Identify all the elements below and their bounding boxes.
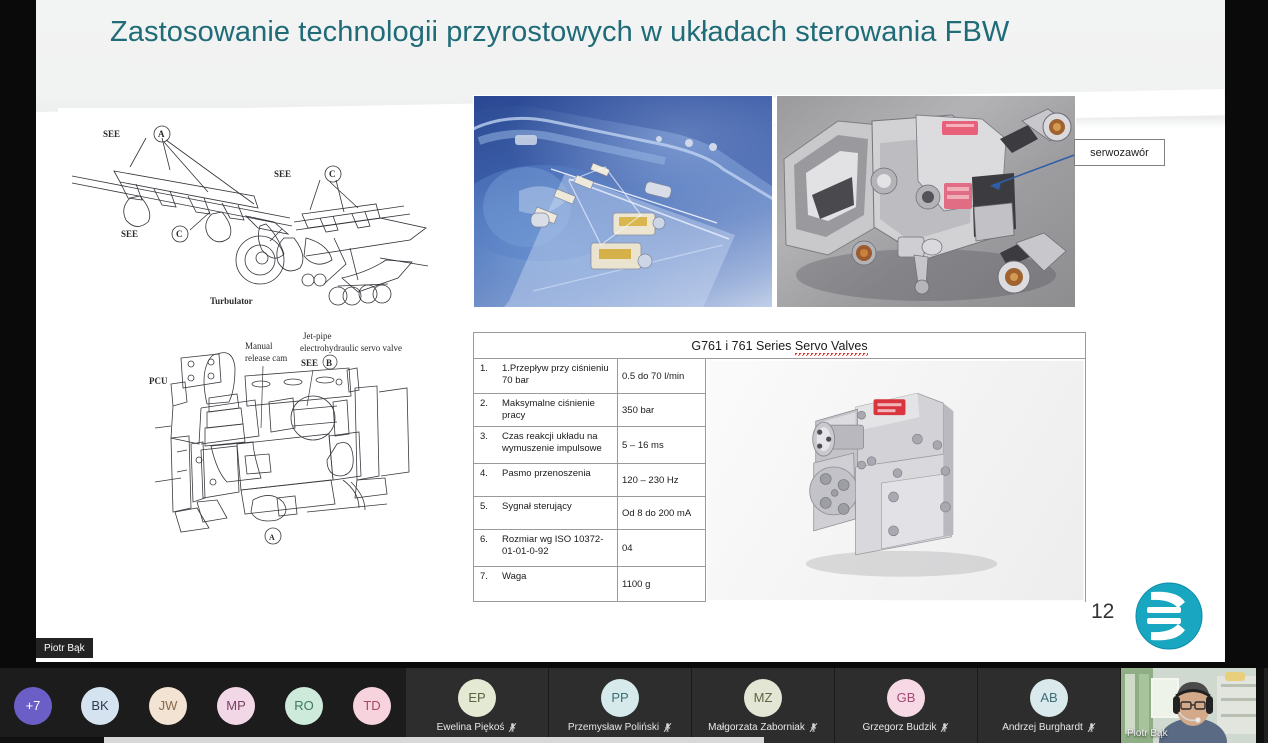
- spec-table-title-underlined: Servo Valves: [795, 339, 868, 356]
- svg-text:C: C: [329, 169, 336, 179]
- self-video-tile[interactable]: Piotr Bąk: [1121, 668, 1264, 743]
- callout-label: serwozawór: [1090, 147, 1149, 159]
- avatar: EP: [458, 679, 496, 717]
- figure-servo-actuator-photo: [776, 95, 1076, 308]
- row-parameter: Maksymalne ciśnienie pracy: [500, 394, 617, 426]
- roster-participant-td[interactable]: TD: [338, 668, 406, 743]
- avatar: MZ: [744, 679, 782, 717]
- roster-participant-przemyslaw-polinski[interactable]: PP Przemysław Poliński: [549, 668, 692, 743]
- participant-name-text: Przemysław Poliński: [568, 722, 659, 733]
- row-number: 2.: [474, 394, 500, 426]
- avatar: JW: [149, 687, 187, 725]
- roster-participant-mp[interactable]: MP: [202, 668, 270, 743]
- mic-off-icon: [508, 722, 517, 733]
- svg-text:Turbulator: Turbulator: [210, 296, 253, 306]
- avatar: RO: [285, 687, 323, 725]
- mic-off-icon: [809, 722, 818, 733]
- avatar-initials: EP: [468, 690, 485, 705]
- roster-participant-ewelina-piekos[interactable]: EP Ewelina Piękoś: [406, 668, 549, 743]
- roster-overflow-count[interactable]: +7: [0, 668, 66, 743]
- roster-participant-bk[interactable]: BK: [66, 668, 134, 743]
- svg-text:Jet-pipe: Jet-pipe: [303, 332, 332, 341]
- avatar-initials: TD: [363, 698, 380, 713]
- shared-content-stage: Zastosowanie technologii przyrostowych w…: [0, 0, 1268, 668]
- slide-title: Zastosowanie technologii przyrostowych w…: [110, 14, 1010, 50]
- spec-table: G761 i 761 Series Servo Valves 1. 1.Prze…: [473, 332, 1086, 602]
- row-number: 7.: [474, 567, 500, 602]
- avatar: BK: [81, 687, 119, 725]
- avatar-initials: BK: [91, 698, 108, 713]
- row-number: 5.: [474, 497, 500, 529]
- wing-diagram-svg: SEE A SEE C SEE C Turbulator: [58, 108, 438, 323]
- figure-aircraft-cad-render: [473, 95, 773, 308]
- row-parameter: Sygnał sterujący: [500, 497, 617, 529]
- svg-text:release cam: release cam: [245, 353, 287, 363]
- participant-name-text: Małgorzata Zaborniak: [708, 722, 805, 733]
- presentation-slide[interactable]: Zastosowanie technologii przyrostowych w…: [36, 0, 1225, 662]
- row-parameter: Waga: [500, 567, 617, 602]
- roster-participant-ro[interactable]: RO: [270, 668, 338, 743]
- avatar-initials: GB: [897, 690, 916, 705]
- avatar-initials: RO: [294, 698, 314, 713]
- participant-name: Przemysław Poliński: [568, 722, 672, 733]
- table-row: 2. Maksymalne ciśnienie pracy 350 bar: [474, 394, 705, 427]
- svg-text:SEE: SEE: [301, 358, 318, 368]
- avatar: +7: [14, 687, 52, 725]
- svg-text:SEE: SEE: [103, 129, 120, 139]
- svg-text:C: C: [176, 229, 183, 239]
- table-row: 6. Rozmiar wg ISO 10372-01-01-0-92 04: [474, 530, 705, 567]
- table-row: 4. Pasmo przenoszenia 120 – 230 Hz: [474, 464, 705, 497]
- participant-name-text: Ewelina Piękoś: [437, 722, 505, 733]
- row-value: 04: [617, 530, 705, 566]
- table-row: 5. Sygnał sterujący Od 8 do 200 mA: [474, 497, 705, 530]
- table-row: 7. Waga 1100 g: [474, 567, 705, 602]
- row-value: 120 – 230 Hz: [617, 464, 705, 496]
- table-row: 1. 1.Przepływ przy ciśnieniu 70 bar 0.5 …: [474, 359, 705, 394]
- roster-participant-grzegorz-budzik[interactable]: GB Grzegorz Budzik: [835, 668, 978, 743]
- callout-serwozawor: serwozawór: [1074, 139, 1165, 166]
- pcu-diagram-svg: PCU Manual release cam Jet-pipe electroh…: [141, 332, 461, 562]
- row-value: Od 8 do 200 mA: [617, 497, 705, 529]
- avatar-initials: AB: [1040, 690, 1057, 705]
- row-number: 3.: [474, 427, 500, 463]
- row-parameter: Pasmo przenoszenia: [500, 464, 617, 496]
- svg-text:SEE: SEE: [121, 229, 138, 239]
- actuator-photo-svg: [776, 95, 1076, 308]
- avatar-initials: JW: [159, 698, 178, 713]
- avatar: PP: [601, 679, 639, 717]
- row-parameter: Rozmiar wg ISO 10372-01-01-0-92: [500, 530, 617, 566]
- participant-name: Małgorzata Zaborniak: [708, 722, 818, 733]
- svg-text:B: B: [326, 358, 332, 368]
- row-number: 6.: [474, 530, 500, 566]
- roster-participant-jw[interactable]: JW: [134, 668, 202, 743]
- presenter-name-overlay: Piotr Bąk: [36, 638, 93, 658]
- svg-text:A: A: [158, 129, 165, 139]
- row-value: 350 bar: [617, 394, 705, 426]
- participant-name: Andrzej Burghardt: [1002, 722, 1096, 733]
- svg-text:Manual: Manual: [245, 341, 273, 351]
- participant-name-text: Grzegorz Budzik: [863, 722, 937, 733]
- avatar-initials: MZ: [754, 690, 773, 705]
- svg-text:A: A: [269, 533, 275, 542]
- spec-table-body: 1. 1.Przepływ przy ciśnieniu 70 bar 0.5 …: [474, 359, 1085, 602]
- svg-text:PCU: PCU: [149, 376, 168, 386]
- row-number: 1.: [474, 359, 500, 393]
- svg-text:SEE: SEE: [274, 169, 291, 179]
- self-video-name: Piotr Bąk: [1127, 728, 1168, 739]
- table-row: 3. Czas reakcji układu na wymuszenie imp…: [474, 427, 705, 464]
- avatar-initials: +7: [26, 698, 41, 713]
- row-number: 4.: [474, 464, 500, 496]
- mic-off-icon: [663, 722, 672, 733]
- bottom-strip-left: [0, 737, 104, 743]
- avatar: TD: [353, 687, 391, 725]
- video-tile-edge: [1256, 668, 1264, 743]
- presenter-name-text: Piotr Bąk: [44, 643, 85, 654]
- callout-leader-line: [991, 152, 1077, 188]
- row-value: 5 – 16 ms: [617, 427, 705, 463]
- row-value: 0.5 do 70 l/min: [617, 359, 705, 393]
- avatar: GB: [887, 679, 925, 717]
- participant-name: Grzegorz Budzik: [863, 722, 950, 733]
- row-parameter: Czas reakcji układu na wymuszenie impuls…: [500, 427, 617, 463]
- meeting-window: Zastosowanie technologii przyrostowych w…: [0, 0, 1268, 743]
- participant-name-text: Andrzej Burghardt: [1002, 722, 1083, 733]
- cad-render-svg: [473, 95, 773, 308]
- brand-logo-icon: [1133, 580, 1205, 652]
- row-value: 1100 g: [617, 567, 705, 602]
- avatar: MP: [217, 687, 255, 725]
- mic-off-icon: [1087, 722, 1096, 733]
- figure-servo-valve-product-photo: [706, 359, 1085, 602]
- avatar-initials: PP: [611, 690, 628, 705]
- figure-pcu-servo-valve-diagram: PCU Manual release cam Jet-pipe electroh…: [141, 332, 461, 562]
- slide-page-number: 12: [1091, 600, 1114, 624]
- row-parameter: 1.Przepływ przy ciśnieniu 70 bar: [500, 359, 617, 393]
- spec-table-header: G761 i 761 Series Servo Valves: [474, 333, 1085, 359]
- roster-participant-malgorzata-zaborniak[interactable]: MZ Małgorzata Zaborniak: [692, 668, 835, 743]
- bottom-strip: [104, 737, 764, 743]
- servo-valve-svg: [706, 359, 1085, 602]
- roster-participant-andrzej-burghardt[interactable]: AB Andrzej Burghardt: [978, 668, 1121, 743]
- avatar-initials: MP: [226, 698, 246, 713]
- mic-off-icon: [940, 722, 949, 733]
- svg-text:electrohydraulic servo valve: electrohydraulic servo valve: [300, 343, 402, 353]
- participant-roster-bar: +7 BK JW MP RO TD: [0, 668, 1268, 743]
- spec-table-rows: 1. 1.Przepływ przy ciśnieniu 70 bar 0.5 …: [474, 359, 706, 602]
- spec-table-title: G761 i 761 Series: [691, 339, 795, 353]
- participant-name: Ewelina Piękoś: [437, 722, 518, 733]
- avatar: AB: [1030, 679, 1068, 717]
- figure-aircraft-wing-diagram: SEE A SEE C SEE C Turbulator: [58, 108, 438, 323]
